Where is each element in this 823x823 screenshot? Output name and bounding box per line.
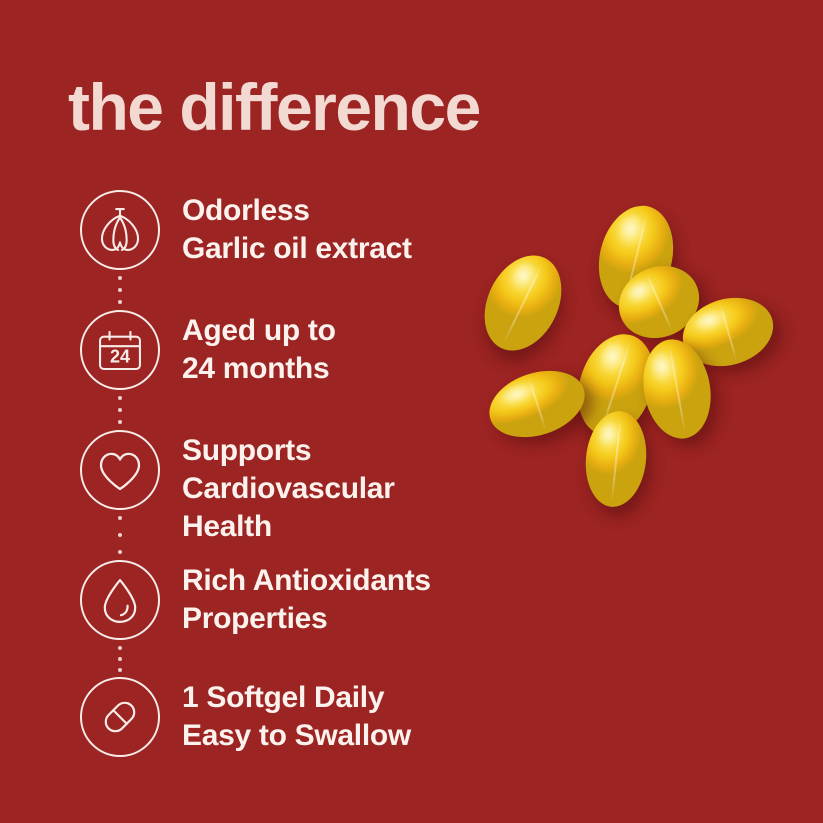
feature-line: 1 Softgel Daily	[182, 679, 411, 717]
icon-column	[72, 560, 168, 640]
feature-line: 24 months	[182, 350, 336, 388]
feature-text: Supports Cardiovascular Health	[168, 430, 395, 546]
calendar-icon-label: 24	[110, 346, 130, 366]
feature-text: Rich Antioxidants Properties	[168, 560, 431, 638]
icon-column	[72, 430, 168, 510]
golden-softgel-capsules	[470, 195, 810, 525]
dotted-connector	[118, 396, 122, 424]
feature-line: Garlic oil extract	[182, 230, 412, 268]
icon-column	[72, 190, 168, 270]
dotted-connector	[118, 276, 122, 304]
heart-icon	[80, 430, 160, 510]
garlic-bulb-icon	[80, 190, 160, 270]
feature-line: Rich Antioxidants	[182, 562, 431, 600]
capsule-icon	[80, 677, 160, 757]
dotted-connector	[118, 646, 122, 672]
feature-line: Properties	[182, 600, 431, 638]
page-title: the difference	[68, 70, 480, 144]
softgel-capsule	[470, 243, 577, 364]
droplet-icon	[80, 560, 160, 640]
feature-list: Odorless Garlic oil extract 24	[72, 190, 502, 787]
icon-column: 24	[72, 310, 168, 390]
feature-line: Supports	[182, 432, 395, 470]
feature-item-odorless-garlic: Odorless Garlic oil extract	[72, 190, 502, 310]
product-benefits-graphic: the difference Odor	[0, 0, 823, 823]
feature-line: Aged up to	[182, 312, 336, 350]
feature-item-cardiovascular-health: Supports Cardiovascular Health	[72, 430, 502, 560]
feature-line: Odorless	[182, 192, 412, 230]
calendar-24-icon: 24	[80, 310, 160, 390]
feature-text: 1 Softgel Daily Easy to Swallow	[168, 677, 411, 755]
softgel-capsule	[481, 359, 593, 448]
feature-text: Odorless Garlic oil extract	[168, 190, 412, 268]
feature-item-rich-antioxidants: Rich Antioxidants Properties	[72, 560, 502, 677]
icon-column	[72, 677, 168, 757]
feature-item-one-softgel-daily: 1 Softgel Daily Easy to Swallow	[72, 677, 502, 787]
feature-line: Easy to Swallow	[182, 717, 411, 755]
feature-text: Aged up to 24 months	[168, 310, 336, 388]
feature-item-aged-24-months: 24 Aged up to 24 months	[72, 310, 502, 430]
feature-line: Cardiovascular	[182, 470, 395, 508]
feature-line: Health	[182, 508, 395, 546]
dotted-connector	[118, 516, 122, 554]
